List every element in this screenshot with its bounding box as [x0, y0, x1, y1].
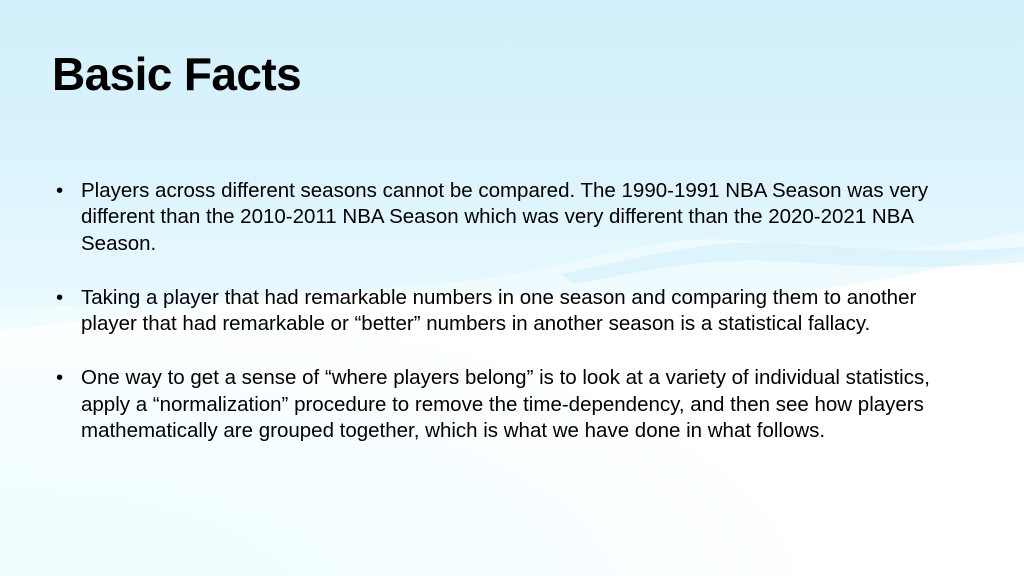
bullet-list: • Players across different seasons canno… [52, 178, 960, 444]
list-item: • Players across different seasons canno… [52, 178, 960, 257]
bullet-dot-icon: • [56, 285, 74, 311]
list-item: • One way to get a sense of “where playe… [52, 365, 960, 444]
list-item: • Taking a player that had remarkable nu… [52, 285, 960, 338]
slide-content: Basic Facts • Players across different s… [0, 0, 1024, 576]
slide-canvas: Basic Facts • Players across different s… [0, 0, 1024, 576]
list-item-text: One way to get a sense of “where players… [81, 365, 960, 444]
list-item-text: Players across different seasons cannot … [81, 178, 960, 257]
page-title: Basic Facts [52, 47, 301, 101]
bullet-dot-icon: • [56, 365, 74, 391]
list-item-text: Taking a player that had remarkable numb… [81, 285, 960, 338]
bullet-dot-icon: • [56, 178, 74, 204]
